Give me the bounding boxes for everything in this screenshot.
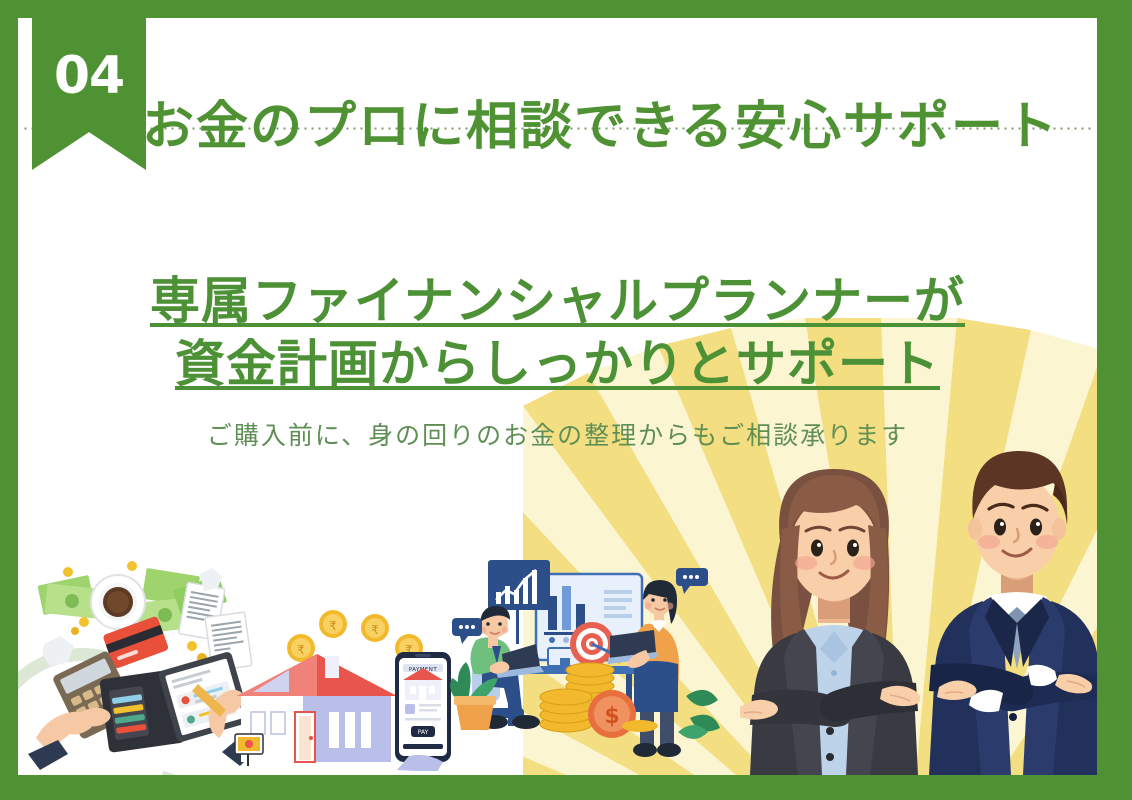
section-number: 04 <box>54 50 124 102</box>
svg-text:₹: ₹ <box>297 643 305 657</box>
slide-canvas: 04 お金のプロに相談できる安心サポート 専属ファイナンシャルプランナーが 資金… <box>18 18 1097 775</box>
illustration-band: ₹ ₹ ₹ ₹ <box>18 445 1097 775</box>
headline-line-1: 専属ファイナンシャルプランナーが <box>18 270 1097 333</box>
svg-text:$: $ <box>604 704 619 729</box>
businessman-illustration <box>913 425 1097 775</box>
svg-text:₹: ₹ <box>329 619 337 633</box>
slide-root: 04 お金のプロに相談できる安心サポート 専属ファイナンシャルプランナーが 資金… <box>0 0 1132 800</box>
business-analytics-illustration: $ <box>450 546 720 771</box>
section-number-ribbon: 04 <box>32 18 146 170</box>
svg-text:PAY: PAY <box>418 729 429 736</box>
subtitle-text: ご購入前に、身の回りのお金の整理からもご相談承ります <box>18 416 1097 452</box>
house-payment-illustration: ₹ ₹ ₹ ₹ <box>233 596 463 771</box>
headline-line-2: 資金計画からしっかりとサポート <box>18 333 1097 396</box>
headline-block: 専属ファイナンシャルプランナーが 資金計画からしっかりとサポート <box>18 270 1097 396</box>
svg-text:₹: ₹ <box>371 623 379 637</box>
page-title: お金のプロに相談できる安心サポート <box>142 81 1092 163</box>
